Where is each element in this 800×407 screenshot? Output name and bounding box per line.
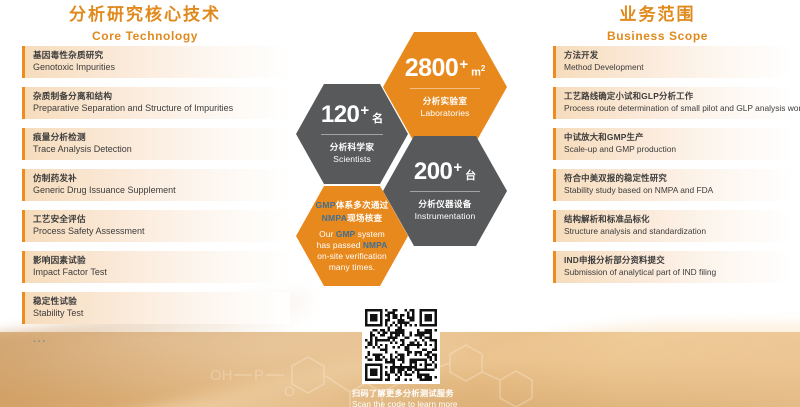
qr-code-block[interactable]: 扫码了解更多分析测试服务 Scan the code to learn more	[352, 306, 450, 407]
qr-caption-cn: 扫码了解更多分析测试服务	[352, 388, 450, 399]
scientists-plus: +	[360, 103, 369, 118]
core-technology-list: 基因毒性杂质研究 Genotoxic Impurities 杂质制备分离和结构 …	[22, 46, 290, 345]
divider	[410, 191, 479, 192]
list-item-cn: IND申报分析部分资料提交	[564, 255, 787, 266]
nmpa-term-cn: NMPA	[322, 213, 347, 223]
svg-text:O: O	[284, 383, 295, 399]
right-column-heading: 业务范围 Business Scope	[515, 4, 800, 45]
list-item[interactable]: 符合中美双报的稳定性研究 Stability study based on NM…	[553, 169, 793, 201]
list-item[interactable]: 稳定性试验 Stability Test	[22, 292, 290, 324]
instrumentation-label-cn: 分析仪器设备	[418, 198, 471, 210]
scientists-value: 120	[321, 103, 360, 127]
laboratories-stat: 2800 + m2	[405, 56, 486, 81]
left-title-cn: 分析研究核心技术	[0, 4, 290, 26]
list-item-cn: 基因毒性杂质研究	[33, 50, 284, 61]
list-item-en: Scale-up and GMP production	[564, 143, 787, 155]
list-item[interactable]: 工艺安全评估 Process Safety Assessment	[22, 210, 290, 242]
gmp-line2-rest: 现场核查	[347, 213, 382, 223]
gmp-text-block: GMP体系多次通过 NMPA现场核查 Our GMP system has pa…	[305, 199, 400, 273]
list-item[interactable]: 仿制药发补 Generic Drug Issuance Supplement	[22, 169, 290, 201]
list-item-cn: 仿制药发补	[33, 173, 284, 184]
scientists-unit: 名	[372, 114, 383, 125]
gmp-en-1: Our	[319, 229, 336, 239]
instrumentation-unit: 台	[465, 171, 476, 182]
list-item-cn: 影响因素试验	[33, 255, 284, 266]
list-item-cn: 中试放大和GMP生产	[564, 132, 787, 143]
qr-caption-en: Scan the code to learn more	[352, 399, 450, 407]
list-item-en: Submission of analytical part of IND fil…	[564, 266, 787, 278]
laboratories-unit: m2	[471, 65, 485, 79]
laboratories-value: 2800	[405, 56, 459, 81]
list-item[interactable]: 工艺路线确定小试和GLP分析工作 Process route determina…	[553, 87, 793, 119]
list-item-cn: 方法开发	[564, 50, 787, 61]
gmp-en-line-4: many times.	[316, 262, 389, 273]
list-item-en: Stability Test	[33, 307, 284, 319]
gmp-line-cn-2: NMPA现场核查	[316, 212, 389, 225]
list-item-en: Process route determination of small pil…	[564, 102, 787, 114]
list-item-cn: 稳定性试验	[33, 296, 284, 307]
list-item[interactable]: 杂质制备分离和结构 Preparative Separation and Str…	[22, 87, 290, 119]
list-item-en: Trace Analysis Detection	[33, 143, 284, 155]
list-item-en: Stability study based on NMPA and FDA	[564, 184, 787, 196]
list-item-en: Process Safety Assessment	[33, 225, 284, 237]
list-item-cn: 工艺路线确定小试和GLP分析工作	[564, 91, 787, 102]
list-item[interactable]: IND申报分析部分资料提交 Submission of analytical p…	[553, 251, 793, 283]
list-item-en: Genotoxic Impurities	[33, 61, 284, 73]
gmp-line-cn-1: GMP体系多次通过	[316, 199, 389, 212]
list-item-en: Impact Factor Test	[33, 266, 284, 278]
list-item[interactable]: 影响因素试验 Impact Factor Test	[22, 251, 290, 283]
right-title-cn: 业务范围	[515, 4, 800, 26]
list-item-cn: 符合中美双报的稳定性研究	[564, 173, 787, 184]
list-item-en: Generic Drug Issuance Supplement	[33, 184, 284, 196]
qr-code-svg	[365, 309, 437, 381]
instrumentation-label-en: Instrumentation	[415, 210, 476, 222]
laboratories-plus: +	[459, 57, 468, 72]
list-item-cn: 杂质制备分离和结构	[33, 91, 284, 102]
list-more-ellipsis: ...	[22, 333, 290, 345]
scientists-label-cn: 分析科学家	[330, 141, 374, 153]
instrumentation-stat: 200 + 台	[414, 160, 476, 184]
list-item[interactable]: 痕量分析检测 Trace Analysis Detection	[22, 128, 290, 160]
gmp-en-line-1: Our GMP system	[316, 229, 389, 240]
gmp-line1-rest: 体系多次通过	[336, 200, 389, 210]
instrumentation-plus: +	[453, 160, 462, 175]
list-item[interactable]: 中试放大和GMP生产 Scale-up and GMP production	[553, 128, 793, 160]
instrumentation-value: 200	[414, 160, 453, 184]
list-item[interactable]: 方法开发 Method Development	[553, 46, 793, 78]
divider	[321, 134, 384, 135]
divider	[410, 88, 479, 89]
laboratories-label-cn: 分析实验室	[423, 95, 467, 107]
svg-text:OH: OH	[210, 367, 233, 384]
right-title-en: Business Scope	[515, 27, 800, 45]
list-item-en: Structure analysis and standardization	[564, 225, 787, 237]
laboratories-label-en: Laboratories	[421, 107, 470, 119]
infographic-canvas: OH P O 分析研究核心技术 Core Technology 业务范围 Bus…	[0, 0, 800, 407]
gmp-text-en: Our GMP system has passed NMPA on-site v…	[316, 229, 389, 273]
list-item-en: Method Development	[564, 61, 787, 73]
gmp-en-line-2: has passed NMPA	[316, 240, 389, 251]
list-item-cn: 工艺安全评估	[33, 214, 284, 225]
list-item[interactable]: 结构解析和标准品标化 Structure analysis and standa…	[553, 210, 793, 242]
qr-caption: 扫码了解更多分析测试服务 Scan the code to learn more	[352, 388, 450, 407]
scientists-stat: 120 + 名	[321, 103, 383, 127]
list-item-en: Preparative Separation and Structure of …	[33, 102, 284, 114]
scientists-label-en: Scientists	[333, 153, 371, 165]
gmp-term-en: GMP	[336, 229, 355, 239]
list-item-cn: 结构解析和标准品标化	[564, 214, 787, 225]
left-title-en: Core Technology	[0, 27, 290, 45]
gmp-en-line-3: on-site verification	[316, 251, 389, 262]
list-item-cn: 痕量分析检测	[33, 132, 284, 143]
nmpa-term-en: NMPA	[363, 240, 387, 250]
gmp-en-2: system	[355, 229, 385, 239]
left-column-heading: 分析研究核心技术 Core Technology	[0, 4, 290, 45]
business-scope-list: 方法开发 Method Development 工艺路线确定小试和GLP分析工作…	[553, 46, 793, 292]
list-item[interactable]: 基因毒性杂质研究 Genotoxic Impurities	[22, 46, 290, 78]
qr-code-image[interactable]	[362, 306, 440, 384]
gmp-term-cn: GMP	[316, 200, 336, 210]
gmp-en-3: has passed	[317, 240, 363, 250]
svg-text:P: P	[254, 367, 264, 384]
